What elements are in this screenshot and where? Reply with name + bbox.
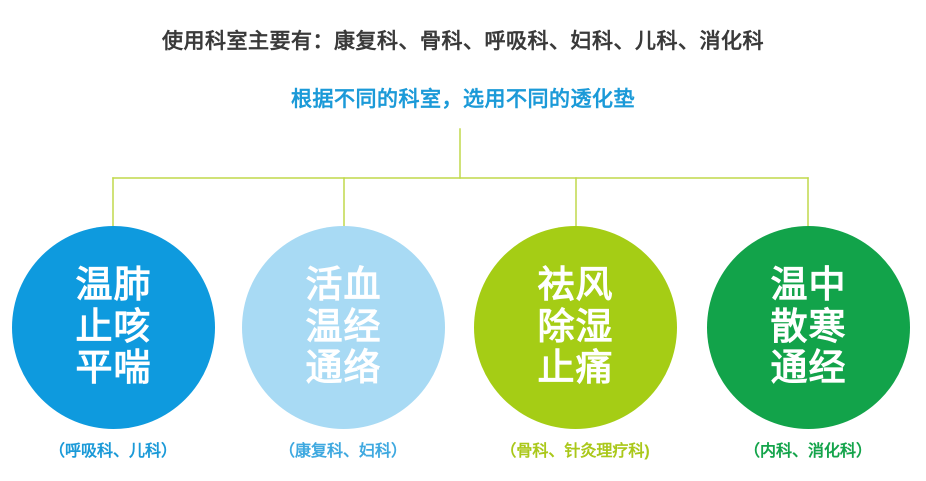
node-3-circle[interactable]: 祛风除湿止痛 [474, 226, 677, 429]
page-subtitle: 根据不同的科室，选用不同的透化垫 [0, 83, 926, 113]
node-3[interactable]: 祛风除湿止痛 [474, 226, 677, 429]
node-3-caption: （骨科、针灸理疗科) [445, 437, 705, 461]
node-4-caption: （内科、消化科） [678, 437, 926, 461]
node-1-caption: （呼吸科、儿科） [0, 437, 243, 461]
node-3-label: 祛风除湿止痛 [521, 265, 631, 389]
node-2-caption: （康复科、妇科） [213, 437, 473, 461]
connector-lines [113, 129, 808, 233]
page-title: 使用科室主要有：康复科、骨科、呼吸科、妇科、儿科、消化科 [0, 25, 926, 55]
node-2[interactable]: 活血温经通络 [242, 226, 445, 429]
node-1-label: 温肺止咳平喘 [59, 265, 169, 389]
node-4[interactable]: 温中散寒通经 [707, 226, 910, 429]
node-1[interactable]: 温肺止咳平喘 [12, 226, 215, 429]
node-2-label: 活血温经通络 [289, 265, 399, 389]
node-4-circle[interactable]: 温中散寒通经 [707, 226, 910, 429]
diagram-canvas: 使用科室主要有：康复科、骨科、呼吸科、妇科、儿科、消化科 根据不同的科室，选用不… [0, 0, 926, 481]
node-4-label: 温中散寒通经 [754, 265, 864, 389]
node-2-circle[interactable]: 活血温经通络 [242, 226, 445, 429]
node-1-circle[interactable]: 温肺止咳平喘 [12, 226, 215, 429]
